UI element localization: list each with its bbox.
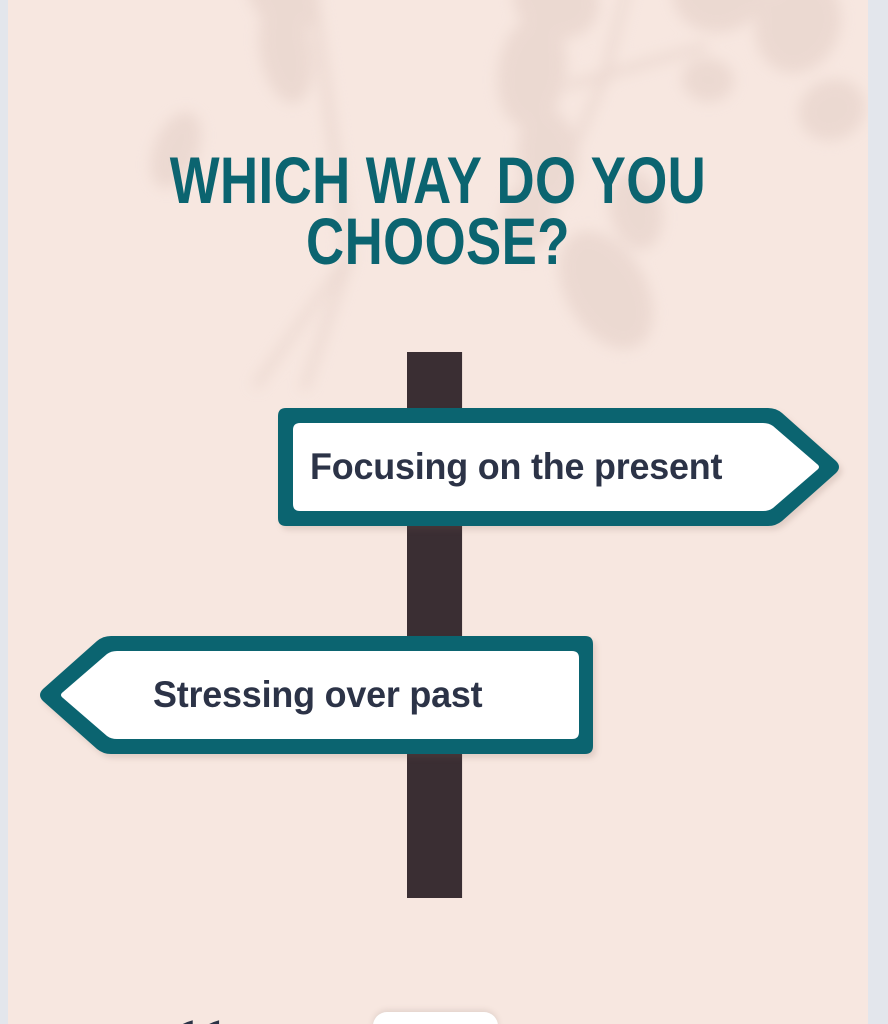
sign-left-label: Stressing over past [153,628,482,762]
bottom-card-peek[interactable] [373,1012,498,1024]
direction-sign-left[interactable]: Stressing over past [37,628,595,762]
content-canvas: WHICH WAY DO YOU CHOOSE? Focusing on the… [8,0,868,1024]
direction-sign-right[interactable]: Focusing on the present [276,400,843,534]
quote-mark-icon: “ [163,1000,223,1024]
scrollbar-gutter[interactable] [868,0,888,1024]
sign-right-label: Focusing on the present [310,400,722,534]
page-title: WHICH WAY DO YOU CHOOSE? [94,150,782,271]
screen-root: WHICH WAY DO YOU CHOOSE? Focusing on the… [0,0,888,1024]
